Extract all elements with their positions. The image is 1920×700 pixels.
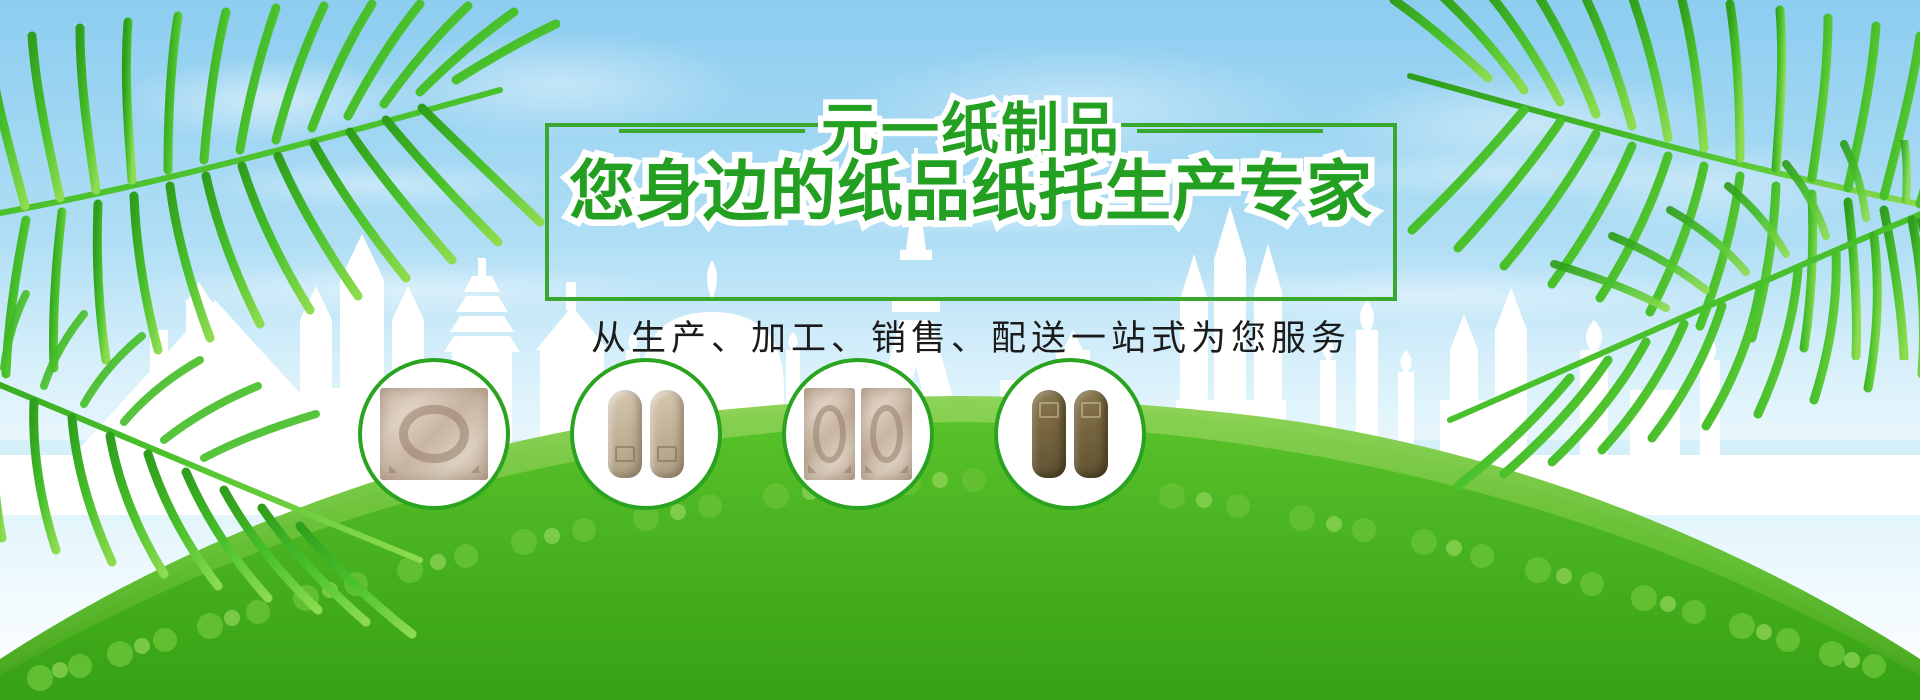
brand-subtitle: 您身边的纸品纸托生产专家 [545, 157, 1397, 227]
headline-block: 元一纸制品 您身边的纸品纸托生产专家 从生产、加工、销售、配送一站式为您服务 [545, 95, 1405, 325]
product-circle-molded-pulp-square-tray[interactable] [358, 358, 510, 510]
product-circle-paper-pulp-insole-pair-dark[interactable] [994, 358, 1146, 510]
palm-frond-icon [1370, 0, 1920, 360]
promo-banner: 元一纸制品 您身边的纸品纸托生产专家 从生产、加工、销售、配送一站式为您服务 [0, 0, 1920, 700]
product-circle-paper-pulp-insole-pair-light[interactable] [570, 358, 722, 510]
rule-right-icon [1137, 129, 1323, 133]
product-image-insoles-dark [1016, 388, 1124, 480]
product-image-insoles-light [592, 388, 700, 480]
product-circle-molded-pulp-double-tray[interactable] [782, 358, 934, 510]
rule-left-icon [619, 129, 805, 133]
palm-frond-icon [1430, 140, 1920, 580]
product-image-double-tray [804, 388, 912, 480]
brand-tagline: 从生产、加工、销售、配送一站式为您服务 [545, 310, 1397, 361]
product-image-tray [380, 388, 488, 480]
palm-frond-icon [0, 280, 440, 700]
palm-frond-icon [0, 0, 560, 390]
